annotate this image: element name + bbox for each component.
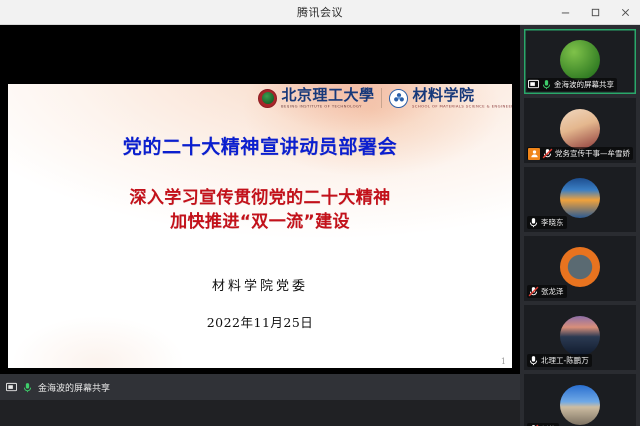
- slide-subtitle-line2: 加快推进“双一流”建设: [8, 210, 512, 234]
- participant-name: 金海波的屏幕共享: [554, 79, 614, 90]
- avatar: [560, 178, 600, 218]
- shared-screen-stage[interactable]: 北京理工大學 BEIJING INSTITUTE OF TECHNOLOGY: [0, 25, 520, 400]
- microphone-icon: [528, 355, 539, 366]
- maximize-button[interactable]: [580, 0, 610, 25]
- avatar: [560, 316, 600, 356]
- materials-school-logo: 材料学院 SCHOOL OF MATERIALS SCIENCE & ENGIN…: [389, 88, 506, 108]
- bit-logo: 北京理工大學 BEIJING INSTITUTE OF TECHNOLOGY: [258, 88, 374, 108]
- close-button[interactable]: [610, 0, 640, 25]
- microphone-icon: [22, 382, 33, 393]
- nameplate: 金海波的屏幕共享: [527, 78, 617, 91]
- microphone-icon: [541, 79, 552, 90]
- participant-tile[interactable]: 张龙泽: [524, 236, 636, 301]
- slide-organization: 材料学院党委: [8, 275, 512, 294]
- slide-subtitle-line1: 深入学习宣传贯彻党的二十大精神: [8, 186, 512, 210]
- nameplate: 李晓东: [527, 216, 567, 229]
- host-badge-icon: [528, 148, 540, 160]
- nameplate: 北理工-陈鹏万: [527, 354, 592, 367]
- nameplate: 张龙泽: [527, 285, 567, 298]
- participant-tile[interactable]: 李晓东: [524, 167, 636, 232]
- slide-title: 党的二十大精神宣讲动员部署会: [8, 132, 512, 159]
- avatar: [560, 385, 600, 425]
- slide-subtitle: 深入学习宣传贯彻党的二十大精神 加快推进“双一流”建设: [8, 186, 512, 234]
- bit-seal-icon: [258, 89, 277, 108]
- screen-share-icon: [528, 79, 539, 90]
- title-bar: 腾讯会议: [0, 0, 640, 25]
- materials-seal-icon: [389, 89, 408, 108]
- minimize-button[interactable]: [550, 0, 580, 25]
- share-status-label: 金海波的屏幕共享: [38, 381, 110, 394]
- minimize-icon: [560, 7, 571, 18]
- nameplate: 党务宣传干事—牟雪娇: [527, 147, 633, 160]
- materials-logo-en: SCHOOL OF MATERIALS SCIENCE & ENGINEERIN…: [412, 105, 512, 109]
- maximize-icon: [590, 7, 601, 18]
- microphone-icon: [528, 217, 539, 228]
- window-controls: [550, 0, 640, 25]
- participant-tile[interactable]: 北理工-陈鹏万: [524, 305, 636, 370]
- participant-tile[interactable]: 金海波的屏幕共享: [524, 29, 636, 94]
- avatar: [560, 109, 600, 149]
- microphone-muted-icon: [542, 148, 553, 159]
- slide-logo-bar: 北京理工大學 BEIJING INSTITUTE OF TECHNOLOGY: [258, 88, 506, 108]
- screen-share-icon: [6, 382, 17, 393]
- participant-name: 李晓东: [541, 217, 564, 228]
- materials-logo-cn: 材料学院: [412, 88, 506, 103]
- participant-tile[interactable]: 党务宣传干事—牟雪娇: [524, 98, 636, 163]
- slide-date: 2022年11月25日: [8, 312, 512, 331]
- bit-logo-cn: 北京理工大學: [281, 88, 374, 103]
- microphone-muted-icon: [528, 286, 539, 297]
- avatar: [560, 247, 600, 287]
- tencent-meeting-window: 腾讯会议: [0, 0, 640, 426]
- slide-page-number: 1: [501, 357, 506, 366]
- participant-tile[interactable]: 刘艳: [524, 374, 636, 426]
- participant-rail[interactable]: 金海波的屏幕共享 党务宣传干事—牟雪娇: [520, 25, 640, 426]
- participant-name: 张龙泽: [541, 286, 564, 297]
- avatar: [560, 40, 600, 80]
- participant-name: 党务宣传干事—牟雪娇: [555, 148, 630, 159]
- participant-name: 北理工-陈鹏万: [541, 355, 589, 366]
- bit-logo-en: BEIJING INSTITUTE OF TECHNOLOGY: [281, 105, 391, 109]
- close-icon: [620, 7, 631, 18]
- share-status-bar: 金海波的屏幕共享: [0, 374, 520, 400]
- window-title: 腾讯会议: [297, 4, 343, 20]
- presentation-slide: 北京理工大學 BEIJING INSTITUTE OF TECHNOLOGY: [8, 84, 512, 368]
- slide-decor-corner: [8, 298, 218, 368]
